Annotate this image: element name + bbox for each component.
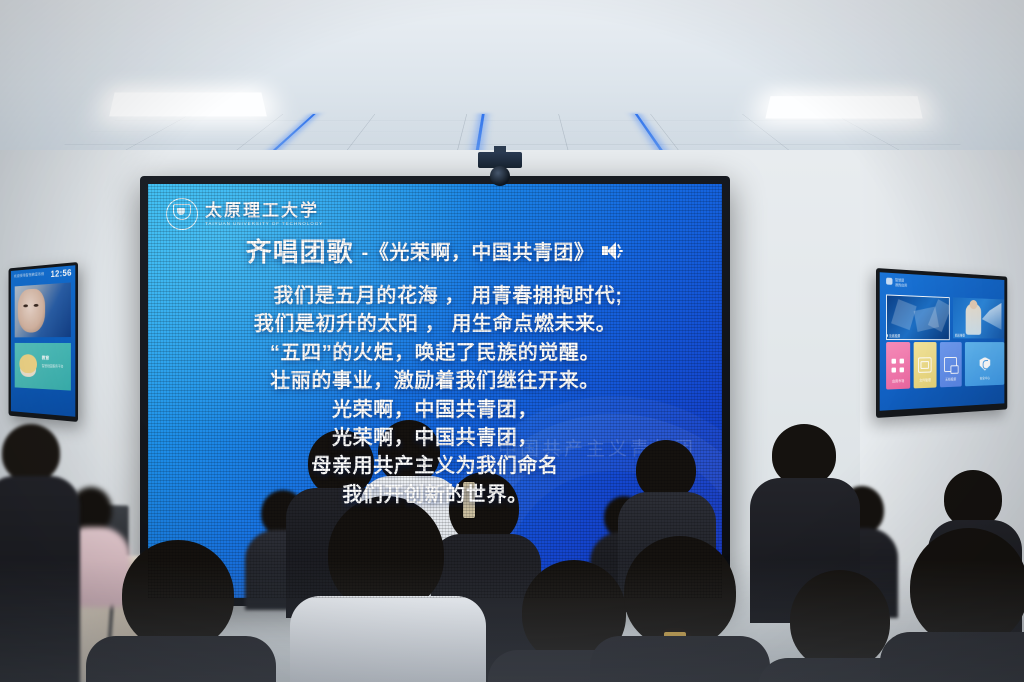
right-tv-header-line2: 我的应用 — [895, 283, 907, 288]
lyric-line: 壮丽的事业，激励着我们继往开来。 — [148, 367, 722, 395]
left-tv-card-title: 教育 — [42, 355, 49, 361]
lyric-line: “五四”的火炬，唤起了民族的觉醒。 — [148, 339, 722, 367]
tile-wireless-cast[interactable]: 无线投屏 — [886, 294, 950, 340]
speaker-icon — [602, 241, 624, 261]
lyrics-block: 我们是五月的花海 ， 用青春拥抱时代; 我们是初升的太阳 ， 用生命点燃未来。 … — [148, 282, 722, 509]
right-wall-tv[interactable]: 智慧屏 我的应用 无线投屏 精彩推荐 — [876, 268, 1007, 418]
tile-caption: 精彩推荐 — [955, 333, 965, 338]
university-logo: 太原理工大学 TAIYUAN UNIVERSITY OF TECHNOLOGY — [166, 198, 323, 230]
app-label: 文件管理 — [919, 377, 931, 382]
ceiling-panel-light — [109, 93, 267, 117]
app-label: 安全中心 — [980, 375, 990, 380]
avatar — [886, 278, 892, 285]
right-tv-header: 智慧屏 我的应用 — [886, 278, 907, 288]
slide-title-sub: -《光荣啊，中国共青团》 — [362, 236, 595, 265]
slide-title: 齐唱团歌 -《光荣啊，中国共青团》 — [148, 232, 722, 269]
left-tv-screen: 欢迎使用智慧教室系统 12:56 教育 智慧校园服务平台 — [11, 265, 75, 417]
floor-shadow — [0, 560, 1024, 682]
folder-icon — [918, 357, 932, 373]
app-label: 无线投屏 — [945, 376, 956, 381]
app-label: 应用市场 — [892, 378, 904, 383]
university-name-cn: 太原理工大学 — [205, 202, 323, 219]
lyric-line: 我们是初升的太阳 ， 用生命点燃未来。 — [148, 310, 722, 338]
lyric-line: 我们是五月的花海 ， 用青春拥抱时代; — [148, 282, 722, 310]
portrait-image — [18, 288, 45, 333]
tile-wing-graphic — [982, 302, 1001, 329]
conference-room-photo: 中国共产主义青年团 太原理工大学 TAIYUAN UNIVERSITY OF T… — [0, 0, 1024, 682]
left-tv-clock: 12:56 — [51, 267, 72, 279]
app-tile-cast[interactable]: 无线投屏 — [940, 342, 962, 387]
university-name-en: TAIYUAN UNIVERSITY OF TECHNOLOGY — [205, 222, 323, 227]
slide-title-main: 齐唱团歌 — [246, 232, 354, 269]
lyric-line: 母亲用共产主义为我们命名 — [148, 452, 722, 480]
left-tv-media-card[interactable] — [15, 282, 71, 337]
right-tv-screen: 智慧屏 我的应用 无线投屏 精彩推荐 — [880, 272, 1005, 411]
right-tv-app-row: 应用市场 文件管理 无线投屏 安全中心 — [886, 342, 1004, 390]
tile-recommended[interactable]: 精彩推荐 — [953, 297, 1004, 338]
cast-icon — [944, 357, 957, 372]
shield-icon — [980, 357, 991, 371]
lyric-line: 我们开创新的世界。 — [148, 481, 722, 509]
left-tv-card-sub: 智慧校园服务平台 — [42, 363, 64, 368]
left-wall-tv[interactable]: 欢迎使用智慧教室系统 12:56 教育 智慧校园服务平台 — [9, 262, 78, 422]
ceiling-camera-icon — [478, 152, 522, 168]
app-tile-security[interactable]: 安全中心 — [965, 342, 1005, 386]
left-tv-status-bar: 欢迎使用智慧教室系统 12:56 — [11, 265, 75, 283]
left-tv-status-text: 欢迎使用智慧教室系统 — [14, 272, 44, 279]
illustration-icon — [19, 354, 37, 373]
grid-icon — [892, 359, 904, 373]
lyric-line: 光荣啊，中国共青团， — [148, 396, 722, 424]
lyric-line: 光荣啊，中国共青团， — [148, 424, 722, 452]
tile-person-image — [966, 303, 981, 334]
app-tile-appstore[interactable]: 应用市场 — [886, 342, 910, 390]
left-tv-info-card[interactable]: 教育 智慧校园服务平台 — [15, 343, 71, 391]
right-tv-tile-row: 无线投屏 精彩推荐 — [886, 294, 1004, 340]
app-tile-files[interactable]: 文件管理 — [914, 342, 937, 388]
tile-caption: 无线投屏 — [889, 333, 900, 338]
university-crest-icon — [166, 198, 198, 230]
ceiling-panel-light — [765, 96, 922, 118]
